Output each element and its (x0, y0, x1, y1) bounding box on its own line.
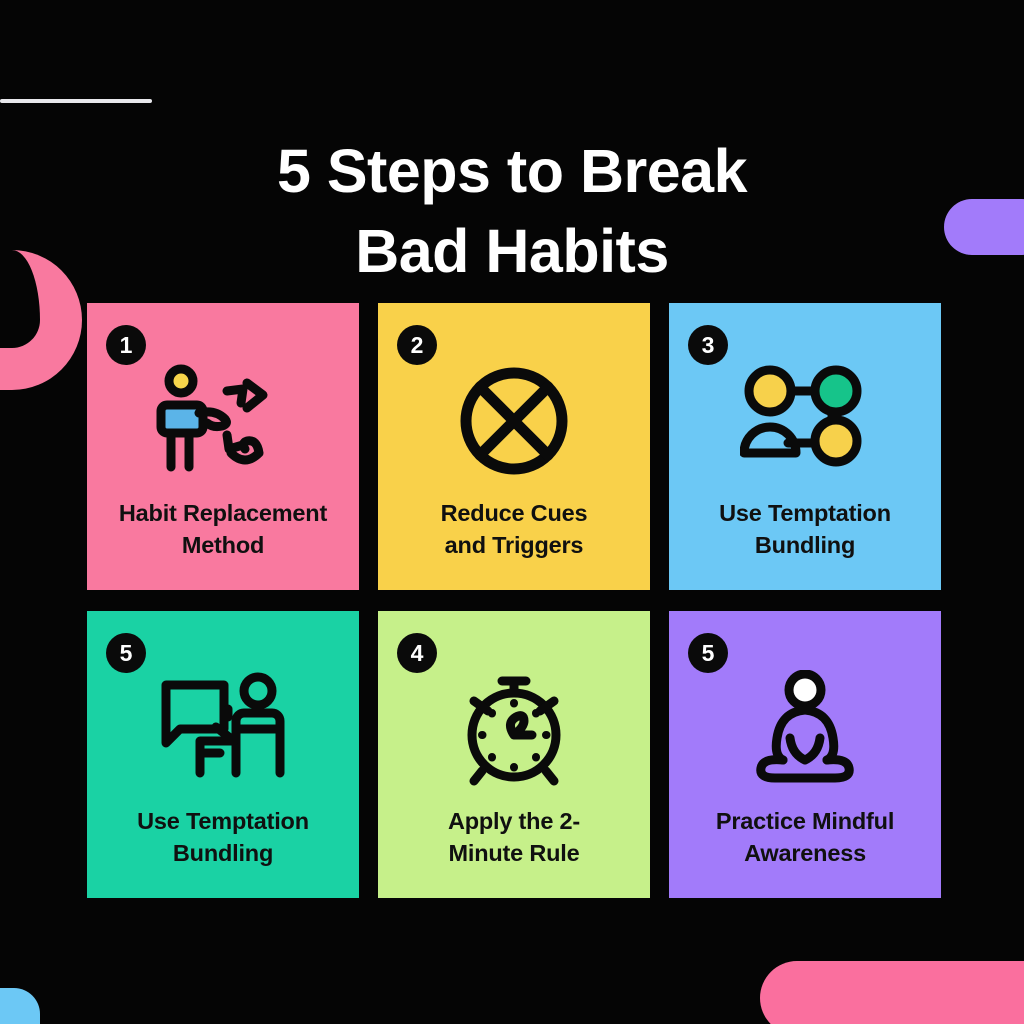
step-label-2: Reduce Cues and Triggers (427, 497, 602, 562)
step-label-1-line-1: Habit Replacement (119, 500, 327, 526)
step-badge-4: 5 (106, 633, 146, 673)
step-label-2-line-1: Reduce Cues (441, 500, 588, 526)
step-badge-3: 3 (688, 325, 728, 365)
step-card-5[interactable]: 4 Apply th (378, 611, 650, 898)
decorative-top-left-line (0, 99, 152, 103)
step-badge-5: 4 (397, 633, 437, 673)
step-card-2[interactable]: 2 Reduce Cues and Triggers (378, 303, 650, 590)
step-badge-2: 2 (397, 325, 437, 365)
step-label-3-line-2: Bundling (755, 532, 855, 558)
decorative-blue-blob (0, 988, 40, 1024)
step-label-1: Habit Replacement Method (105, 497, 341, 562)
infographic-poster: 5 Steps to Break Bad Habits 1 (0, 0, 1024, 1024)
poster-title-line-2: Bad Habits (0, 211, 1024, 292)
step-card-1[interactable]: 1 Habit Replacement (87, 303, 359, 590)
step-label-6-line-2: Awareness (744, 840, 866, 866)
step-label-4-line-1: Use Temptation (137, 808, 309, 834)
decorative-pink-pill (760, 961, 1024, 1024)
step-label-6-line-1: Practice Mindful (716, 808, 894, 834)
step-card-6[interactable]: 5 Practice Mindful Awareness (669, 611, 941, 898)
step-badge-1: 1 (106, 325, 146, 365)
step-card-3[interactable]: 3 Use Temptation Bundling (669, 303, 941, 590)
step-label-3-line-1: Use Temptation (719, 500, 891, 526)
step-label-5-line-1: Apply the 2- (448, 808, 580, 834)
poster-title: 5 Steps to Break Bad Habits (0, 131, 1024, 292)
step-badge-6: 5 (688, 633, 728, 673)
step-label-2-line-2: and Triggers (445, 532, 584, 558)
person-network-nodes-icon (735, 358, 875, 483)
step-card-4[interactable]: 5 Use Temptation Bundling (87, 611, 359, 898)
step-label-4: Use Temptation Bundling (123, 805, 323, 870)
step-label-1-line-2: Method (182, 532, 264, 558)
steps-grid: 1 Habit Replacement (87, 303, 941, 898)
step-label-3: Use Temptation Bundling (705, 497, 905, 562)
speech-bubble-person-desk-icon (153, 666, 293, 791)
circle-cross-prohibition-icon (444, 358, 584, 483)
step-label-5-line-2: Minute Rule (449, 840, 580, 866)
step-label-5: Apply the 2- Minute Rule (434, 805, 594, 870)
person-swap-arrows-icon (153, 358, 293, 483)
poster-title-line-1: 5 Steps to Break (0, 131, 1024, 212)
step-label-4-line-2: Bundling (173, 840, 273, 866)
meditation-lotus-icon (735, 666, 875, 791)
alarm-clock-icon (444, 666, 584, 791)
step-label-6: Practice Mindful Awareness (702, 805, 908, 870)
